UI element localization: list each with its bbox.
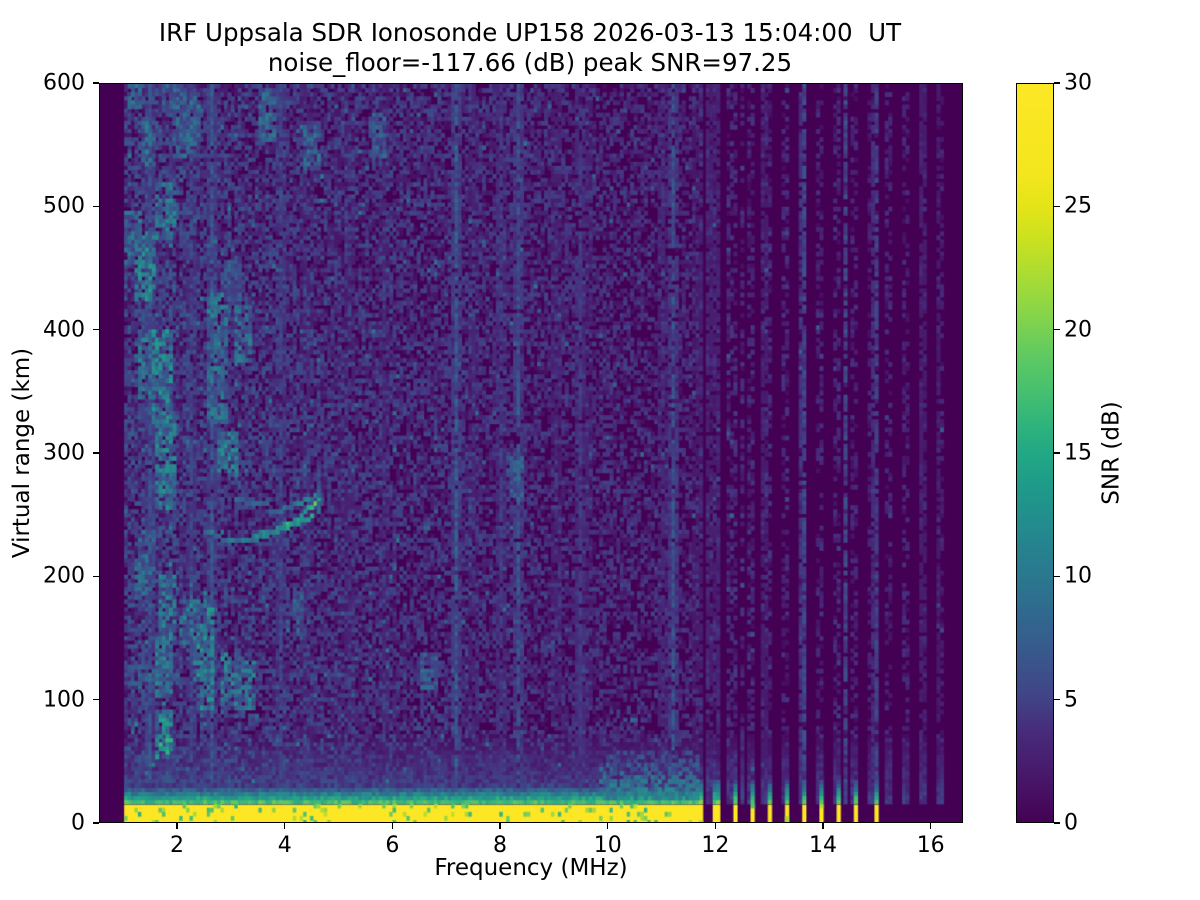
x-axis-tick	[715, 823, 716, 829]
y-axis-tick-label: 300	[3, 441, 85, 466]
colorbar-tick	[1054, 206, 1060, 207]
figure-canvas: IRF Uppsala SDR Ionosonde UP158 2026-03-…	[0, 0, 1200, 900]
colorbar-label: SNR (dB)	[1098, 83, 1126, 823]
x-axis-label-text: Frequency (MHz)	[434, 855, 627, 881]
snr-colorbar[interactable]	[1016, 83, 1054, 823]
colorbar-tick-label: 25	[1064, 194, 1092, 219]
colorbar-label-text: SNR (dB)	[1099, 401, 1125, 504]
y-axis-tick-label: 400	[3, 317, 85, 342]
x-axis-tick	[284, 823, 285, 829]
y-axis-tick	[93, 576, 99, 577]
x-axis-tick-label: 8	[493, 833, 507, 858]
colorbar-tick	[1054, 576, 1060, 577]
x-axis-tick	[499, 823, 500, 829]
y-axis-tick	[93, 452, 99, 453]
y-axis-tick-label: 600	[3, 71, 85, 96]
x-axis-tick-label: 12	[701, 833, 729, 858]
plot-title: IRF Uppsala SDR Ionosonde UP158 2026-03-…	[0, 18, 1060, 78]
x-axis-tick-label: 16	[917, 833, 945, 858]
colorbar-tick	[1054, 329, 1060, 330]
title-line-2: noise_floor=-117.66 (dB) peak SNR=97.25	[0, 48, 1060, 78]
x-axis-tick	[392, 823, 393, 829]
x-axis-label: Frequency (MHz)	[99, 855, 963, 881]
x-axis-tick-label: 4	[278, 833, 292, 858]
x-axis-tick	[822, 823, 823, 829]
colorbar-tick	[1054, 452, 1060, 453]
y-axis-tick-label: 200	[3, 564, 85, 589]
colorbar-tick	[1054, 699, 1060, 700]
y-axis-tick	[93, 699, 99, 700]
y-axis-tick	[93, 822, 99, 823]
y-axis-tick	[93, 329, 99, 330]
x-axis-tick	[930, 823, 931, 829]
colorbar-tick	[1054, 82, 1060, 83]
colorbar-tick-label: 0	[1064, 811, 1078, 836]
y-axis-tick-label: 0	[3, 811, 85, 836]
ionogram-axes[interactable]	[99, 83, 963, 823]
title-line-1: IRF Uppsala SDR Ionosonde UP158 2026-03-…	[0, 18, 1060, 48]
y-axis-tick	[93, 206, 99, 207]
y-axis-tick-label: 500	[3, 194, 85, 219]
colorbar-tick	[1054, 822, 1060, 823]
y-axis-tick	[93, 82, 99, 83]
colorbar-tick-label: 30	[1064, 71, 1092, 96]
ionogram-heatmap	[100, 84, 962, 822]
x-axis-tick	[176, 823, 177, 829]
x-axis-tick-label: 14	[809, 833, 837, 858]
colorbar-tick-label: 5	[1064, 687, 1078, 712]
colorbar-tick-label: 15	[1064, 441, 1092, 466]
x-axis-tick-label: 10	[594, 833, 622, 858]
colorbar-tick-label: 20	[1064, 317, 1092, 342]
x-axis-tick-label: 2	[170, 833, 184, 858]
x-axis-tick-label: 6	[385, 833, 399, 858]
colorbar-tick-label: 10	[1064, 564, 1092, 589]
x-axis-tick	[607, 823, 608, 829]
y-axis-tick-label: 100	[3, 687, 85, 712]
